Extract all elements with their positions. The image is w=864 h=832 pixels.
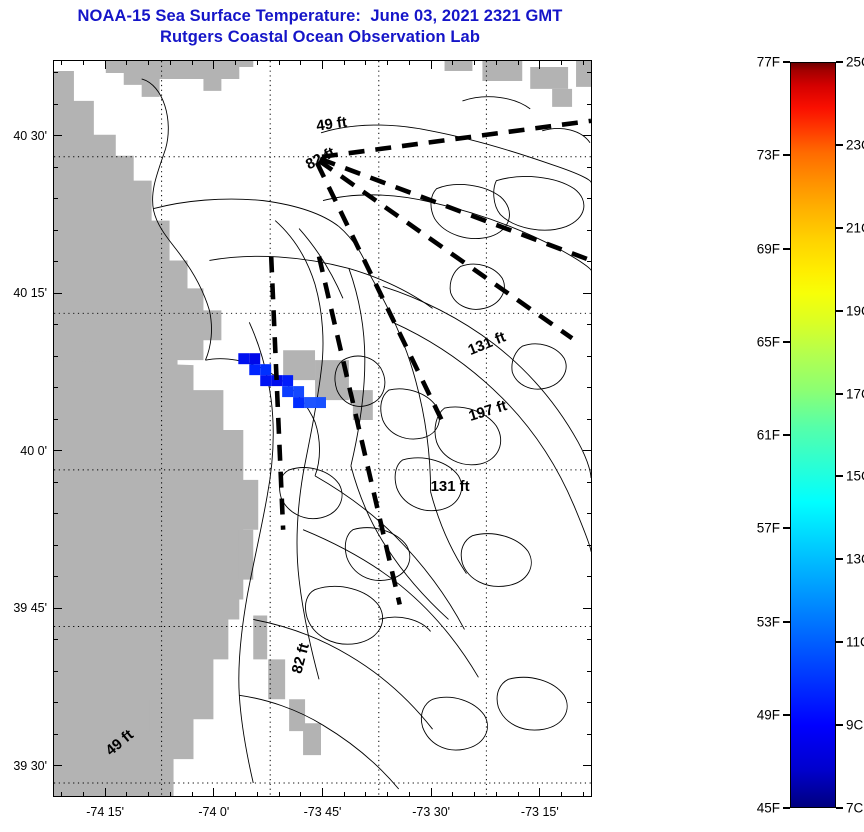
colorbar-tick-fahrenheit (783, 248, 790, 250)
x-axis-minor-tick (539, 60, 540, 65)
colorbar-label-celsius: 17C (846, 386, 864, 401)
depth-label-131ft-upper: 131 ft (466, 329, 509, 359)
y-axis-minor-tick (53, 293, 58, 294)
y-axis-minor-tick (53, 356, 58, 357)
y-axis-minor-tick (53, 261, 58, 262)
x-axis-minor-tick (496, 792, 497, 797)
x-axis-minor-tick (365, 60, 366, 65)
colorbar-label-celsius: 13C (846, 552, 864, 567)
title-line-2: Rutgers Coastal Ocean Observation Lab (0, 27, 640, 48)
y-axis-minor-tick (587, 167, 592, 168)
y-axis-minor-tick (587, 104, 592, 105)
x-axis-minor-tick (170, 60, 171, 65)
x-axis-minor-tick (539, 792, 540, 797)
y-axis-minor-tick (53, 671, 58, 672)
x-axis-minor-tick (387, 60, 388, 65)
y-axis-minor-tick (53, 702, 58, 703)
x-axis-minor-tick (213, 792, 214, 797)
x-axis-minor-tick (409, 792, 410, 797)
x-axis-minor-tick (365, 792, 366, 797)
colorbar-gradient (790, 62, 836, 808)
y-axis-minor-tick (587, 671, 592, 672)
x-axis-minor-tick (279, 792, 280, 797)
colorbar-container[interactable]: 77F73F69F65F61F57F53F49F45F25C23C21C19C1… (790, 62, 836, 808)
y-axis-minor-tick (587, 450, 592, 451)
depth-label-82ft-south: 82 ft (289, 641, 313, 675)
x-axis-minor-tick (431, 792, 432, 797)
y-axis-minor-tick (53, 576, 58, 577)
y-axis-minor-tick (587, 576, 592, 577)
title-line-1: NOAA-15 Sea Surface Temperature: June 03… (0, 6, 640, 27)
colorbar-tick-fahrenheit (783, 527, 790, 529)
y-axis-minor-tick (53, 513, 58, 514)
y-axis-minor-tick (587, 293, 592, 294)
colorbar-label-fahrenheit: 49F (757, 707, 780, 722)
y-axis-tick-label: 40 30' (13, 129, 47, 143)
colorbar-label-fahrenheit: 53F (757, 614, 780, 629)
x-axis-minor-tick (192, 60, 193, 65)
y-axis-tick-label: 40 0' (20, 444, 47, 458)
colorbar-tick-fahrenheit (783, 154, 790, 156)
colorbar-label-fahrenheit: 73F (757, 148, 780, 163)
x-axis-minor-tick (322, 60, 323, 65)
x-axis-tick-label: -73 15' (521, 805, 559, 819)
x-axis-minor-tick (561, 792, 562, 797)
y-axis-minor-tick (587, 261, 592, 262)
x-axis-minor-tick (126, 60, 127, 65)
x-axis-tick-label: -74 15' (86, 805, 124, 819)
colorbar-label-fahrenheit: 45F (757, 801, 780, 816)
x-axis-tick-label: -74 0' (198, 805, 229, 819)
x-axis-minor-tick (235, 60, 236, 65)
colorbar-tick-celsius (836, 393, 843, 395)
x-axis-minor-tick (344, 60, 345, 65)
depth-label-49ft-north: 49 ft (315, 114, 348, 135)
y-axis-minor-tick (587, 702, 592, 703)
y-axis-minor-tick (587, 734, 592, 735)
x-axis-minor-tick (61, 792, 62, 797)
y-axis-minor-tick (587, 545, 592, 546)
colorbar-tick-celsius (836, 475, 843, 477)
y-axis-tick-label: 39 45' (13, 601, 47, 615)
x-axis-minor-tick (213, 60, 214, 65)
colorbar-tick-fahrenheit (783, 807, 790, 809)
y-axis-minor-tick (587, 198, 592, 199)
y-axis-minor-tick (53, 72, 58, 73)
x-axis-minor-tick (300, 60, 301, 65)
x-axis-minor-tick (387, 792, 388, 797)
y-axis-minor-tick (587, 324, 592, 325)
colorbar-tick-celsius (836, 641, 843, 643)
colorbar-tick-fahrenheit (783, 621, 790, 623)
y-axis-minor-tick (53, 135, 58, 136)
map-graphics: 49 ft 82 ft 131 ft 197 ft 131 ft 82 ft 4… (54, 61, 591, 796)
y-axis-minor-tick (53, 104, 58, 105)
colorbar-label-celsius: 7C (846, 801, 863, 816)
colorbar-label-fahrenheit: 57F (757, 521, 780, 536)
y-axis-minor-tick (53, 545, 58, 546)
colorbar-tick-fahrenheit (783, 714, 790, 716)
colorbar-tick-celsius (836, 144, 843, 146)
y-axis-minor-tick (53, 608, 58, 609)
colorbar-label-celsius: 15C (846, 469, 864, 484)
colorbar-label-celsius: 25C (846, 55, 864, 70)
colorbar-label-celsius: 9C (846, 718, 863, 733)
colorbar-tick-fahrenheit (783, 61, 790, 63)
colorbar-tick-celsius (836, 227, 843, 229)
y-axis-minor-tick (587, 513, 592, 514)
sst-map-figure: NOAA-15 Sea Surface Temperature: June 03… (0, 0, 864, 832)
x-axis-minor-tick (452, 792, 453, 797)
x-axis-minor-tick (61, 60, 62, 65)
x-axis-minor-tick (235, 792, 236, 797)
x-axis-minor-tick (105, 60, 106, 65)
colorbar-label-celsius: 23C (846, 137, 864, 152)
colorbar-label-fahrenheit: 65F (757, 334, 780, 349)
y-axis-minor-tick (53, 324, 58, 325)
y-axis-minor-tick (53, 230, 58, 231)
colorbar-label-celsius: 19C (846, 303, 864, 318)
depth-label-131ft-lower: 131 ft (431, 478, 470, 495)
x-axis-minor-tick (583, 60, 584, 65)
y-axis-minor-tick (53, 765, 58, 766)
x-axis-minor-tick (561, 60, 562, 65)
x-axis-minor-tick (126, 792, 127, 797)
y-axis-tick-label: 40 15' (13, 286, 47, 300)
y-axis-minor-tick (53, 167, 58, 168)
x-axis-tick-label: -73 30' (412, 805, 450, 819)
y-axis-minor-tick (587, 135, 592, 136)
x-axis-minor-tick (83, 60, 84, 65)
colorbar-tick-celsius (836, 558, 843, 560)
y-axis-minor-tick (587, 482, 592, 483)
y-axis-minor-tick (587, 608, 592, 609)
x-axis-minor-tick (257, 60, 258, 65)
colorbar-tick-celsius (836, 724, 843, 726)
y-axis-minor-tick (53, 419, 58, 420)
colorbar-label-celsius: 21C (846, 220, 864, 235)
x-axis-minor-tick (279, 60, 280, 65)
y-axis-minor-tick (587, 230, 592, 231)
x-axis-minor-tick (170, 792, 171, 797)
map-plot-area[interactable]: 49 ft 82 ft 131 ft 197 ft 131 ft 82 ft 4… (53, 60, 592, 797)
x-axis-minor-tick (452, 60, 453, 65)
y-axis-minor-tick (53, 387, 58, 388)
x-axis-minor-tick (148, 792, 149, 797)
depth-label-197ft: 197 ft (467, 397, 509, 425)
figure-title: NOAA-15 Sea Surface Temperature: June 03… (0, 6, 640, 48)
colorbar-tick-celsius (836, 807, 843, 809)
colorbar-label-fahrenheit: 61F (757, 428, 780, 443)
x-axis-minor-tick (105, 792, 106, 797)
colorbar-label-fahrenheit: 69F (757, 241, 780, 256)
x-axis-minor-tick (474, 792, 475, 797)
x-axis-minor-tick (192, 792, 193, 797)
x-axis-minor-tick (409, 60, 410, 65)
colorbar-label-fahrenheit: 77F (757, 55, 780, 70)
colorbar-label-celsius: 11C (846, 635, 864, 650)
y-axis-minor-tick (53, 198, 58, 199)
x-axis-minor-tick (300, 792, 301, 797)
x-axis-minor-tick (518, 792, 519, 797)
y-axis-minor-tick (587, 765, 592, 766)
x-axis-minor-tick (496, 60, 497, 65)
y-axis-minor-tick (53, 734, 58, 735)
y-axis-minor-tick (587, 419, 592, 420)
y-axis-minor-tick (53, 450, 58, 451)
colorbar-tick-celsius (836, 310, 843, 312)
x-axis-minor-tick (322, 792, 323, 797)
colorbar-tick-fahrenheit (783, 434, 790, 436)
x-axis-minor-tick (431, 60, 432, 65)
y-axis-minor-tick (587, 72, 592, 73)
y-axis-minor-tick (53, 482, 58, 483)
x-axis-tick-label: -73 45' (304, 805, 342, 819)
colorbar-tick-fahrenheit (783, 341, 790, 343)
x-axis-minor-tick (257, 792, 258, 797)
x-axis-minor-tick (83, 792, 84, 797)
y-axis-minor-tick (587, 356, 592, 357)
y-axis-minor-tick (53, 639, 58, 640)
x-axis-minor-tick (344, 792, 345, 797)
x-axis-minor-tick (148, 60, 149, 65)
x-axis-minor-tick (518, 60, 519, 65)
y-axis-minor-tick (587, 639, 592, 640)
x-axis-minor-tick (474, 60, 475, 65)
y-axis-minor-tick (587, 387, 592, 388)
colorbar-tick-celsius (836, 61, 843, 63)
y-axis-tick-label: 39 30' (13, 759, 47, 773)
x-axis-minor-tick (583, 792, 584, 797)
